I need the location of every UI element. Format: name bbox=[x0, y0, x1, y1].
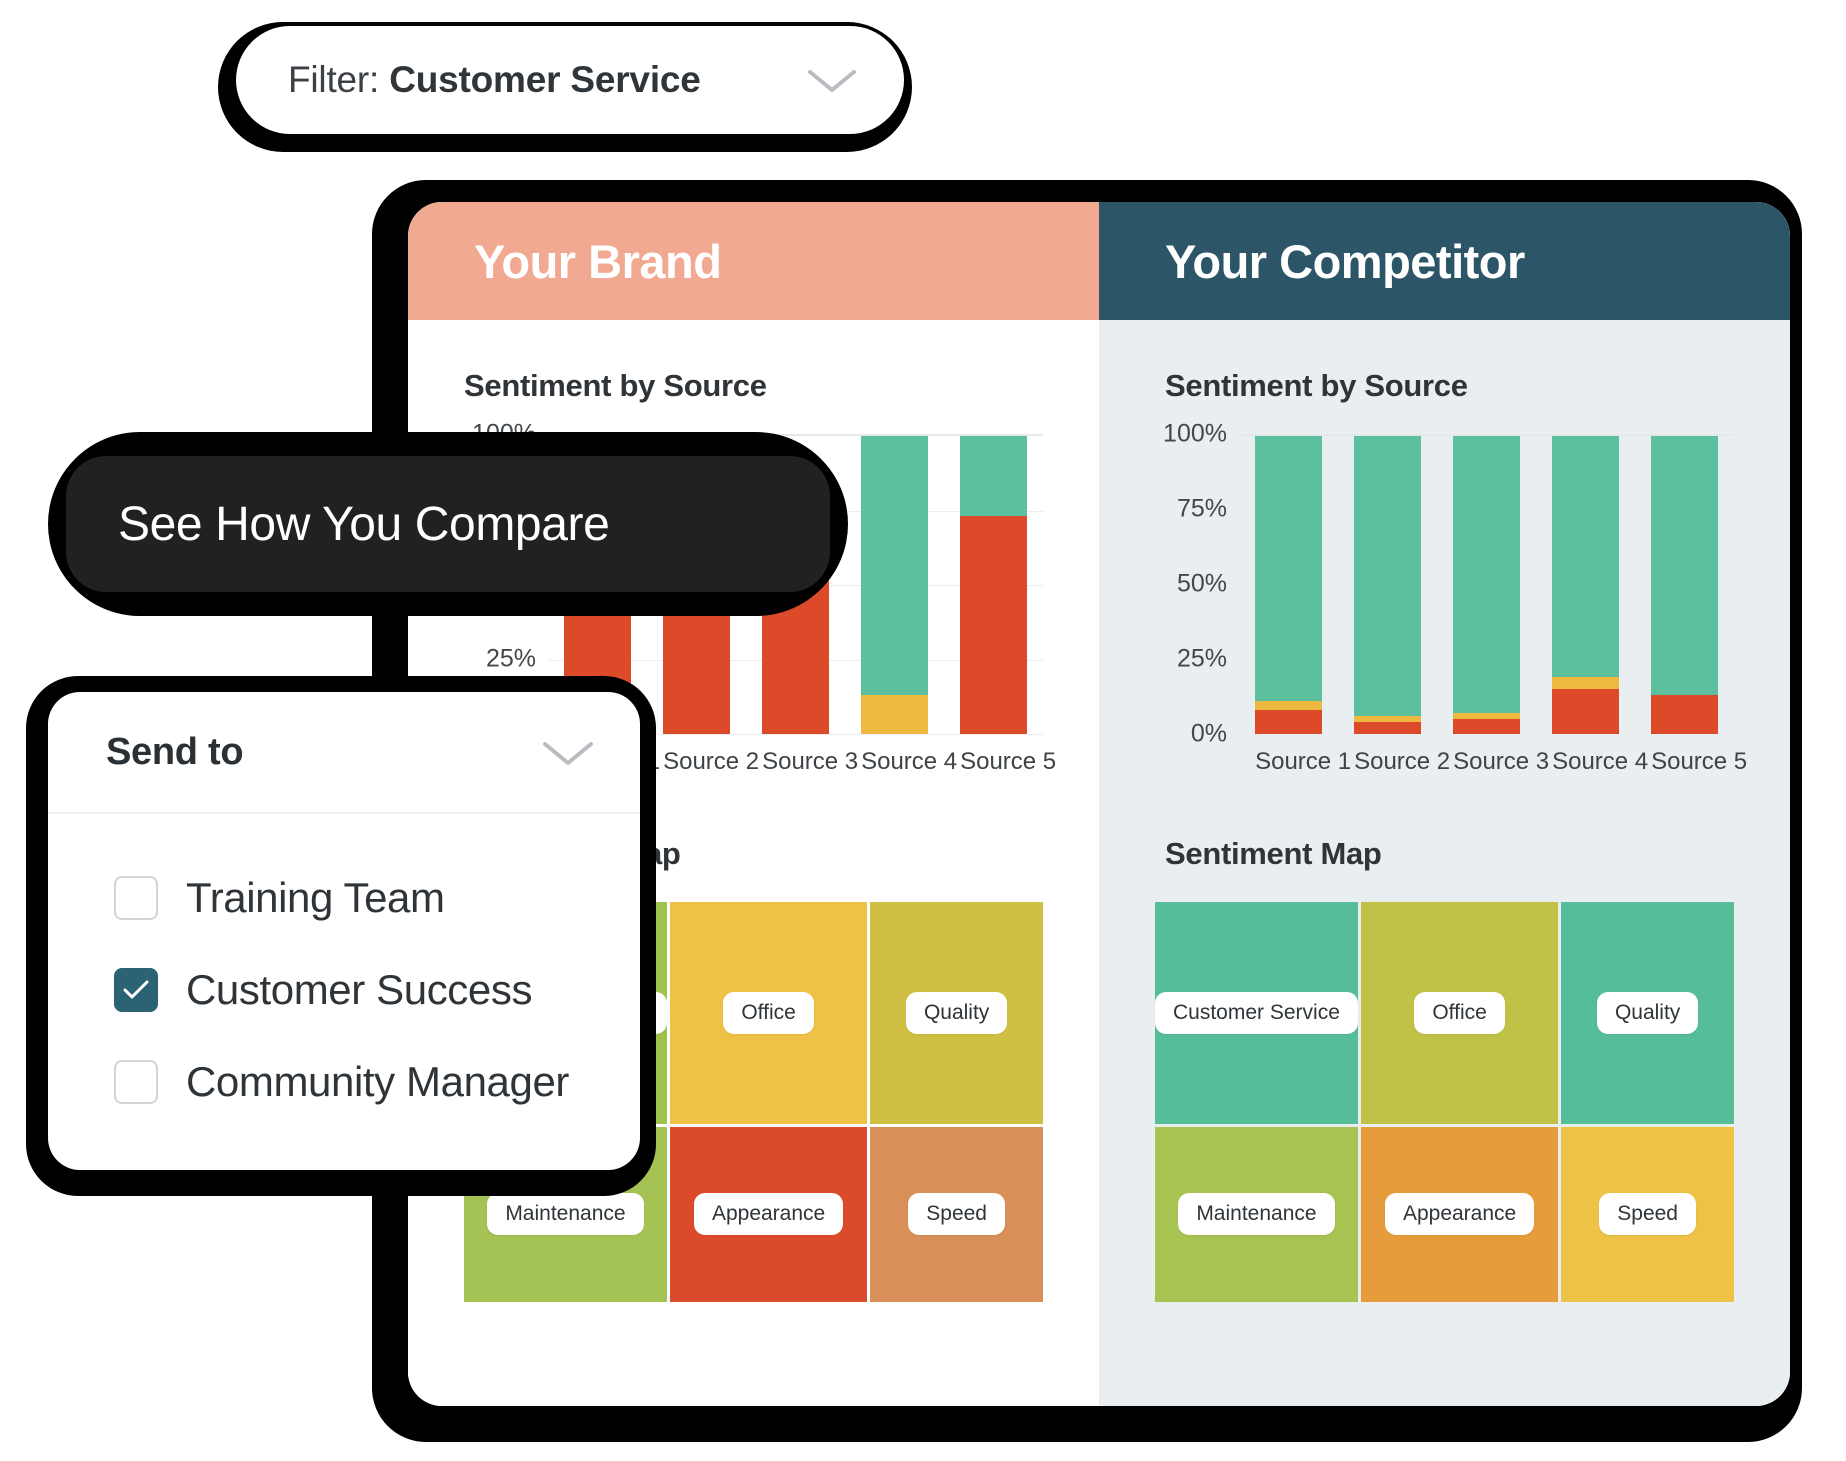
chevron-down-icon[interactable] bbox=[804, 64, 860, 96]
bar-segment-positive bbox=[1354, 436, 1421, 716]
bar-brand bbox=[960, 436, 1027, 734]
y-tick-25-brand: 25% bbox=[486, 645, 536, 674]
y-tick-50-competitor: 50% bbox=[1177, 570, 1227, 599]
send-to-option[interactable]: Customer Success bbox=[114, 944, 640, 1036]
sentiment-tile-label: Speed bbox=[908, 1193, 1005, 1235]
y-tick-100-competitor: 100% bbox=[1163, 420, 1227, 449]
sentiment-tile[interactable]: Speed bbox=[870, 1127, 1043, 1302]
chart-title-brand: Sentiment by Source bbox=[464, 368, 1043, 404]
chevron-down-icon[interactable] bbox=[538, 735, 598, 769]
checkbox-icon[interactable] bbox=[114, 1060, 158, 1104]
sentiment-tile-label: Maintenance bbox=[487, 1193, 643, 1235]
bar-segment-positive bbox=[1453, 436, 1520, 713]
bar-segment-negative bbox=[1552, 689, 1619, 734]
bar-brand bbox=[861, 436, 928, 734]
panel-title-your-brand: Your Brand bbox=[474, 234, 721, 289]
sentiment-tile-label: Office bbox=[723, 992, 813, 1034]
bar-segment-positive bbox=[861, 436, 928, 695]
x-tick-label: Source 2 bbox=[663, 748, 730, 776]
send-to-panel: Send to Training TeamCustomer SuccessCom… bbox=[48, 692, 640, 1170]
bar-segment-positive bbox=[1552, 436, 1619, 677]
x-axis-competitor: Source 1Source 2Source 3Source 4Source 5 bbox=[1239, 748, 1734, 776]
x-tick-label: Source 1 bbox=[1255, 748, 1322, 776]
send-to-option-label: Community Manager bbox=[186, 1058, 569, 1106]
panel-header-your-competitor: Your Competitor bbox=[1099, 202, 1790, 320]
x-tick-label: Source 3 bbox=[762, 748, 829, 776]
bar-segment-neutral bbox=[1552, 677, 1619, 689]
sentiment-by-source-chart-competitor: 100% 75% 50% 25% 0% bbox=[1155, 434, 1734, 734]
x-axis-wrap-competitor: Source 1Source 2Source 3Source 4Source 5 bbox=[1155, 734, 1734, 776]
bar-segment-positive bbox=[960, 436, 1027, 516]
x-tick-label: Source 2 bbox=[1354, 748, 1421, 776]
sentiment-tile[interactable]: Customer Service bbox=[1155, 902, 1358, 1124]
x-tick-label: Source 3 bbox=[1453, 748, 1520, 776]
map-title-competitor: Sentiment Map bbox=[1165, 836, 1734, 872]
bar-segment-negative bbox=[960, 516, 1027, 734]
bar-competitor bbox=[1453, 436, 1520, 734]
filter-label: Filter: Customer Service bbox=[288, 59, 701, 101]
sentiment-tile-label: Speed bbox=[1599, 1193, 1696, 1235]
x-tick-label: Source 4 bbox=[861, 748, 928, 776]
plot-area-competitor bbox=[1239, 434, 1734, 734]
bar-segment-neutral bbox=[1255, 701, 1322, 710]
send-to-option[interactable]: Community Manager bbox=[114, 1036, 640, 1128]
bar-group-competitor bbox=[1239, 436, 1734, 734]
filter-dropdown[interactable]: Filter: Customer Service bbox=[236, 26, 904, 134]
y-tick-75-competitor: 75% bbox=[1177, 495, 1227, 524]
gridline bbox=[1239, 734, 1734, 735]
sentiment-tile[interactable]: Maintenance bbox=[1155, 1127, 1358, 1302]
bar-competitor bbox=[1651, 436, 1718, 734]
bar-segment-negative bbox=[1255, 710, 1322, 734]
sentiment-tile[interactable]: Office bbox=[1361, 902, 1558, 1124]
send-to-option-label: Customer Success bbox=[186, 966, 532, 1014]
send-to-option-label: Training Team bbox=[186, 874, 445, 922]
bar-segment-negative bbox=[1651, 695, 1718, 734]
y-axis-competitor: 100% 75% 50% 25% 0% bbox=[1155, 434, 1239, 734]
x-tick-label: Source 5 bbox=[960, 748, 1027, 776]
bar-competitor bbox=[1552, 436, 1619, 734]
sentiment-map-competitor: Customer ServiceOfficeQualityMaintenance… bbox=[1155, 902, 1734, 1302]
send-to-option[interactable]: Training Team bbox=[114, 852, 640, 944]
bar-segment-negative bbox=[1354, 722, 1421, 734]
y-tick-25-competitor: 25% bbox=[1177, 645, 1227, 674]
bar-segment-neutral bbox=[861, 695, 928, 734]
sentiment-tile-label: Quality bbox=[1597, 992, 1698, 1034]
sentiment-tile[interactable]: Appearance bbox=[1361, 1127, 1558, 1302]
sentiment-tile[interactable]: Office bbox=[670, 902, 867, 1124]
sentiment-tile[interactable]: Quality bbox=[1561, 902, 1734, 1124]
sentiment-tile-label: Appearance bbox=[1385, 1193, 1534, 1235]
screenshot-root: Your Brand Sentiment by Source 100% 75% … bbox=[0, 0, 1846, 1461]
filter-value: Customer Service bbox=[389, 59, 700, 100]
send-to-header[interactable]: Send to bbox=[48, 692, 640, 814]
bar-segment-positive bbox=[1651, 436, 1718, 695]
sentiment-tile-label: Customer Service bbox=[1155, 992, 1358, 1034]
send-to-options-list: Training TeamCustomer SuccessCommunity M… bbox=[48, 814, 640, 1128]
bar-segment-positive bbox=[1255, 436, 1322, 701]
x-tick-label: Source 4 bbox=[1552, 748, 1619, 776]
tooltip-text: See How You Compare bbox=[118, 497, 609, 552]
y-tick-0-competitor: 0% bbox=[1191, 720, 1227, 749]
panel-your-competitor: Your Competitor Sentiment by Source 100%… bbox=[1099, 202, 1790, 1406]
panel-header-your-brand: Your Brand bbox=[408, 202, 1099, 320]
sentiment-tile[interactable]: Appearance bbox=[670, 1127, 867, 1302]
sentiment-tile-label: Maintenance bbox=[1178, 1193, 1334, 1235]
checkbox-icon[interactable] bbox=[114, 876, 158, 920]
sentiment-tile-label: Office bbox=[1414, 992, 1504, 1034]
bar-segment-negative bbox=[1453, 719, 1520, 734]
send-to-title: Send to bbox=[106, 731, 243, 774]
chart-title-competitor: Sentiment by Source bbox=[1165, 368, 1734, 404]
sentiment-tile-label: Quality bbox=[906, 992, 1007, 1034]
panel-body-your-competitor: Sentiment by Source 100% 75% 50% 25% 0% bbox=[1099, 320, 1790, 1302]
checkbox-checked-icon[interactable] bbox=[114, 968, 158, 1012]
bar-competitor bbox=[1255, 436, 1322, 734]
sentiment-tile[interactable]: Speed bbox=[1561, 1127, 1734, 1302]
sentiment-tile-label: Appearance bbox=[694, 1193, 843, 1235]
sentiment-tile[interactable]: Quality bbox=[870, 902, 1043, 1124]
sentiment-map-wrap-competitor: Sentiment Map Customer ServiceOfficeQual… bbox=[1155, 836, 1734, 1302]
x-tick-label: Source 5 bbox=[1651, 748, 1718, 776]
bar-competitor bbox=[1354, 436, 1421, 734]
tooltip-see-how-you-compare: See How You Compare bbox=[66, 456, 830, 592]
panel-title-your-competitor: Your Competitor bbox=[1165, 234, 1525, 289]
